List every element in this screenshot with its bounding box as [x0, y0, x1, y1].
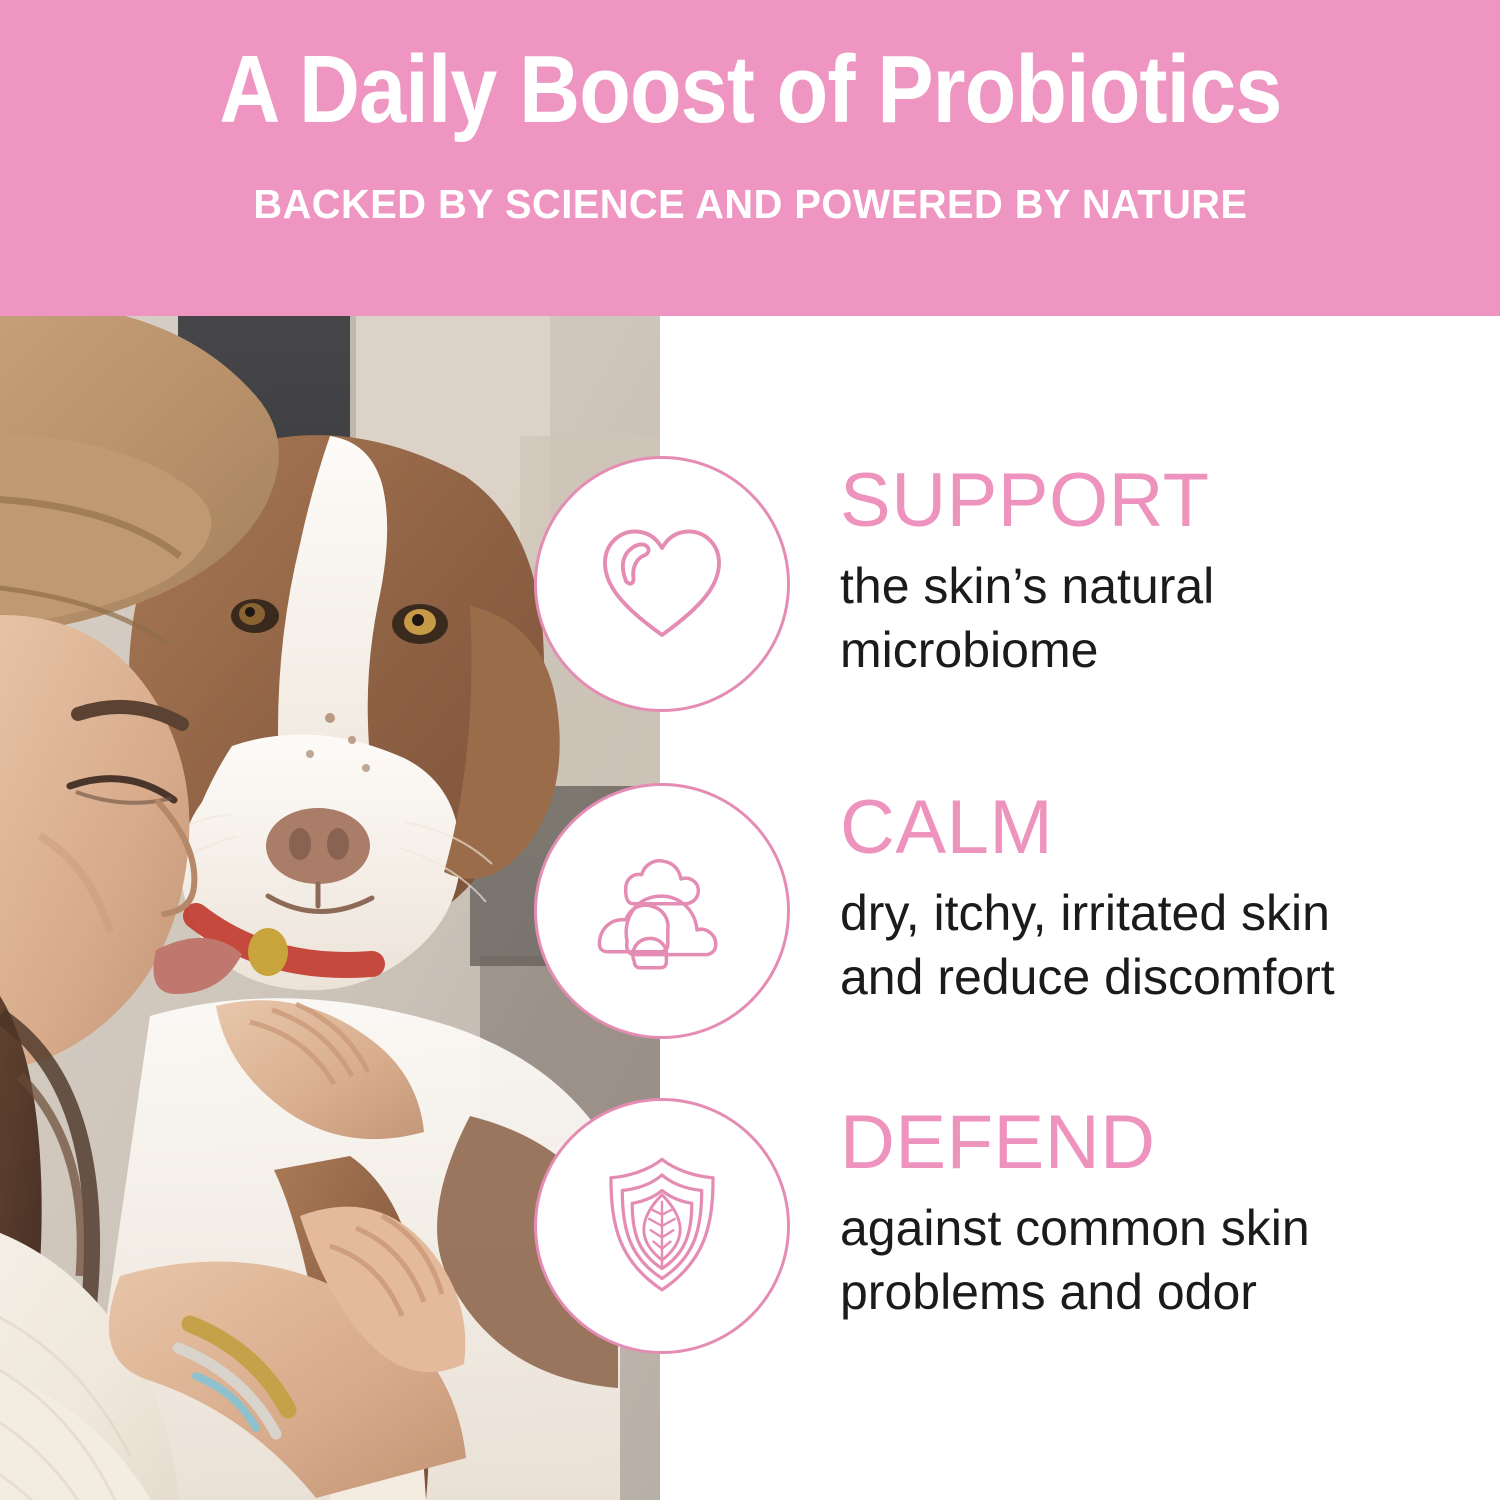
feature-desc-line: microbiome	[840, 618, 1480, 682]
feature-text-defend: DEFEND against common skin problems and …	[790, 1098, 1500, 1324]
feature-item-support: SUPPORT the skin’s natural microbiome	[0, 456, 1500, 712]
page-subtitle: BACKED BY SCIENCE AND POWERED BY NATURE	[253, 184, 1247, 225]
feature-desc-defend: against common skin problems and odor	[840, 1196, 1480, 1324]
heart-icon-glyph	[587, 509, 737, 659]
feature-desc-line: against common skin	[840, 1196, 1480, 1260]
feature-heading-calm: CALM	[840, 791, 1500, 865]
feature-item-calm: CALM dry, itchy, irritated skin and redu…	[0, 783, 1500, 1039]
clouds-icon	[534, 783, 790, 1039]
feature-text-calm: CALM dry, itchy, irritated skin and redu…	[790, 783, 1500, 1009]
shield-leaf-icon-glyph	[584, 1148, 740, 1304]
feature-desc-line: the skin’s natural	[840, 554, 1480, 618]
heart-icon	[534, 456, 790, 712]
feature-desc-calm: dry, itchy, irritated skin and reduce di…	[840, 881, 1480, 1009]
feature-item-defend: DEFEND against common skin problems and …	[0, 1098, 1500, 1354]
clouds-icon-glyph	[582, 831, 742, 991]
header-banner: A Daily Boost of Probiotics BACKED BY SC…	[0, 0, 1500, 316]
page-title: A Daily Boost of Probiotics	[219, 42, 1281, 138]
feature-desc-line: problems and odor	[840, 1260, 1480, 1324]
feature-heading-support: SUPPORT	[840, 464, 1500, 538]
shield-leaf-icon	[534, 1098, 790, 1354]
feature-list: SUPPORT the skin’s natural microbiome	[0, 316, 1500, 1500]
product-feature-banner: A Daily Boost of Probiotics BACKED BY SC…	[0, 0, 1500, 1500]
feature-text-support: SUPPORT the skin’s natural microbiome	[790, 456, 1500, 682]
feature-heading-defend: DEFEND	[840, 1106, 1500, 1180]
feature-desc-support: the skin’s natural microbiome	[840, 554, 1480, 682]
feature-desc-line: dry, itchy, irritated skin	[840, 881, 1480, 945]
feature-desc-line: and reduce discomfort	[840, 945, 1480, 1009]
